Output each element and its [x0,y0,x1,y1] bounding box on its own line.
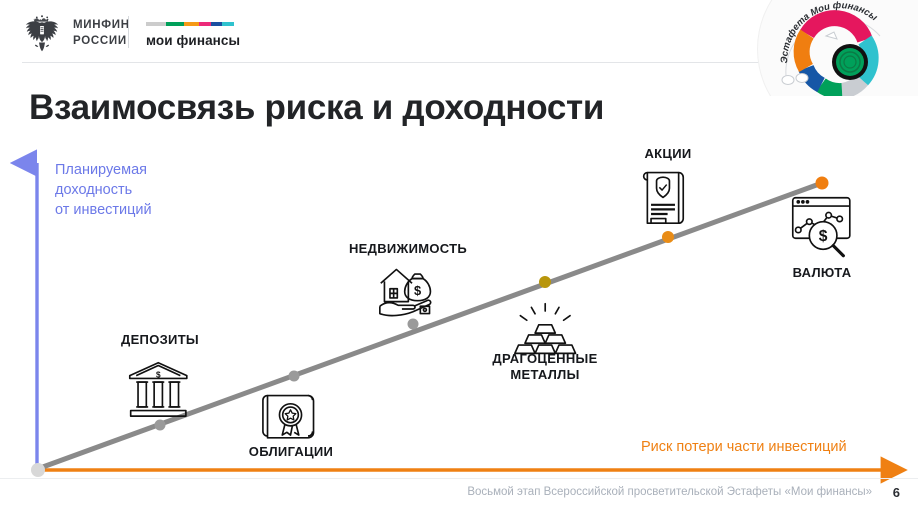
data-point-stocks [662,231,674,243]
data-point-deposits [155,420,166,431]
minfin-line-1: МИНФИН [73,18,130,34]
y-axis-label-line-2: доходность [55,180,152,200]
moi-finansy-logo: мои финансы [146,22,240,48]
page-title: Взаимосвязь риска и доходности [29,88,604,128]
mf-bar-4 [211,22,222,26]
mf-bar-5 [222,22,234,26]
mf-bar-0 [146,22,166,26]
y-axis-label: Планируемая доходность от инвестиций [55,160,152,220]
certificate-scroll-icon [263,396,314,438]
node-label-bonds: ОБЛИГАЦИИ [226,444,356,460]
footer-text: Восьмой этап Всероссийской просветительс… [467,486,872,498]
russian-coat-of-arms-icon [20,13,64,55]
node-label-precious-metals: ДРАГОЦЕННЫЕ МЕТАЛЛЫ [465,351,625,383]
y-axis-label-line-1: Планируемая [55,160,152,180]
bank-icon: $ [130,363,187,416]
slide: МИНФИН РОССИИ мои финансы [0,0,918,514]
footer-divider [0,478,918,479]
x-axis-label: Риск потери части инвестиций [641,439,847,455]
gold-bars-icon [515,304,576,354]
node-label-stocks: АКЦИИ [613,146,723,162]
data-point-real-estate [408,319,419,330]
y-axis-label-line-3: от инвестиций [55,200,152,220]
logo-divider [128,16,129,48]
minfin-logo: МИНФИН РОССИИ [20,13,130,55]
mf-bar-3 [199,22,211,26]
house-moneybag-icon: $ [380,269,431,315]
estafeta-badge: Эстафета Мои финансы [750,0,918,96]
data-point-currency [816,177,829,190]
mf-bar-2 [184,22,199,26]
data-point-bonds [289,371,300,382]
estafeta-ring-logo-icon: Эстафета Мои финансы [764,0,914,96]
moi-finansy-wordmark: мои финансы [146,33,240,48]
stock-certificate-icon [644,173,684,224]
trend-line [40,183,822,468]
currency-chart-magnifier-icon: $ [793,198,850,256]
svg-text:$: $ [156,370,161,379]
minfin-wordmark: МИНФИН РОССИИ [73,18,130,49]
moi-finansy-color-bars [146,22,234,26]
node-label-deposits: ДЕПОЗИТЫ [95,332,225,348]
data-point-origin [31,463,45,477]
mf-bar-1 [166,22,184,26]
node-label-real-estate: НЕДВИЖИМОСТЬ [325,241,491,257]
minfin-line-2: РОССИИ [73,34,130,50]
svg-text:$: $ [819,228,828,245]
node-label-currency: ВАЛЮТА [760,265,884,281]
svg-text:$: $ [414,283,421,298]
page-number: 6 [893,485,900,500]
header-divider [22,62,792,63]
data-point-precious-metals [539,276,551,288]
